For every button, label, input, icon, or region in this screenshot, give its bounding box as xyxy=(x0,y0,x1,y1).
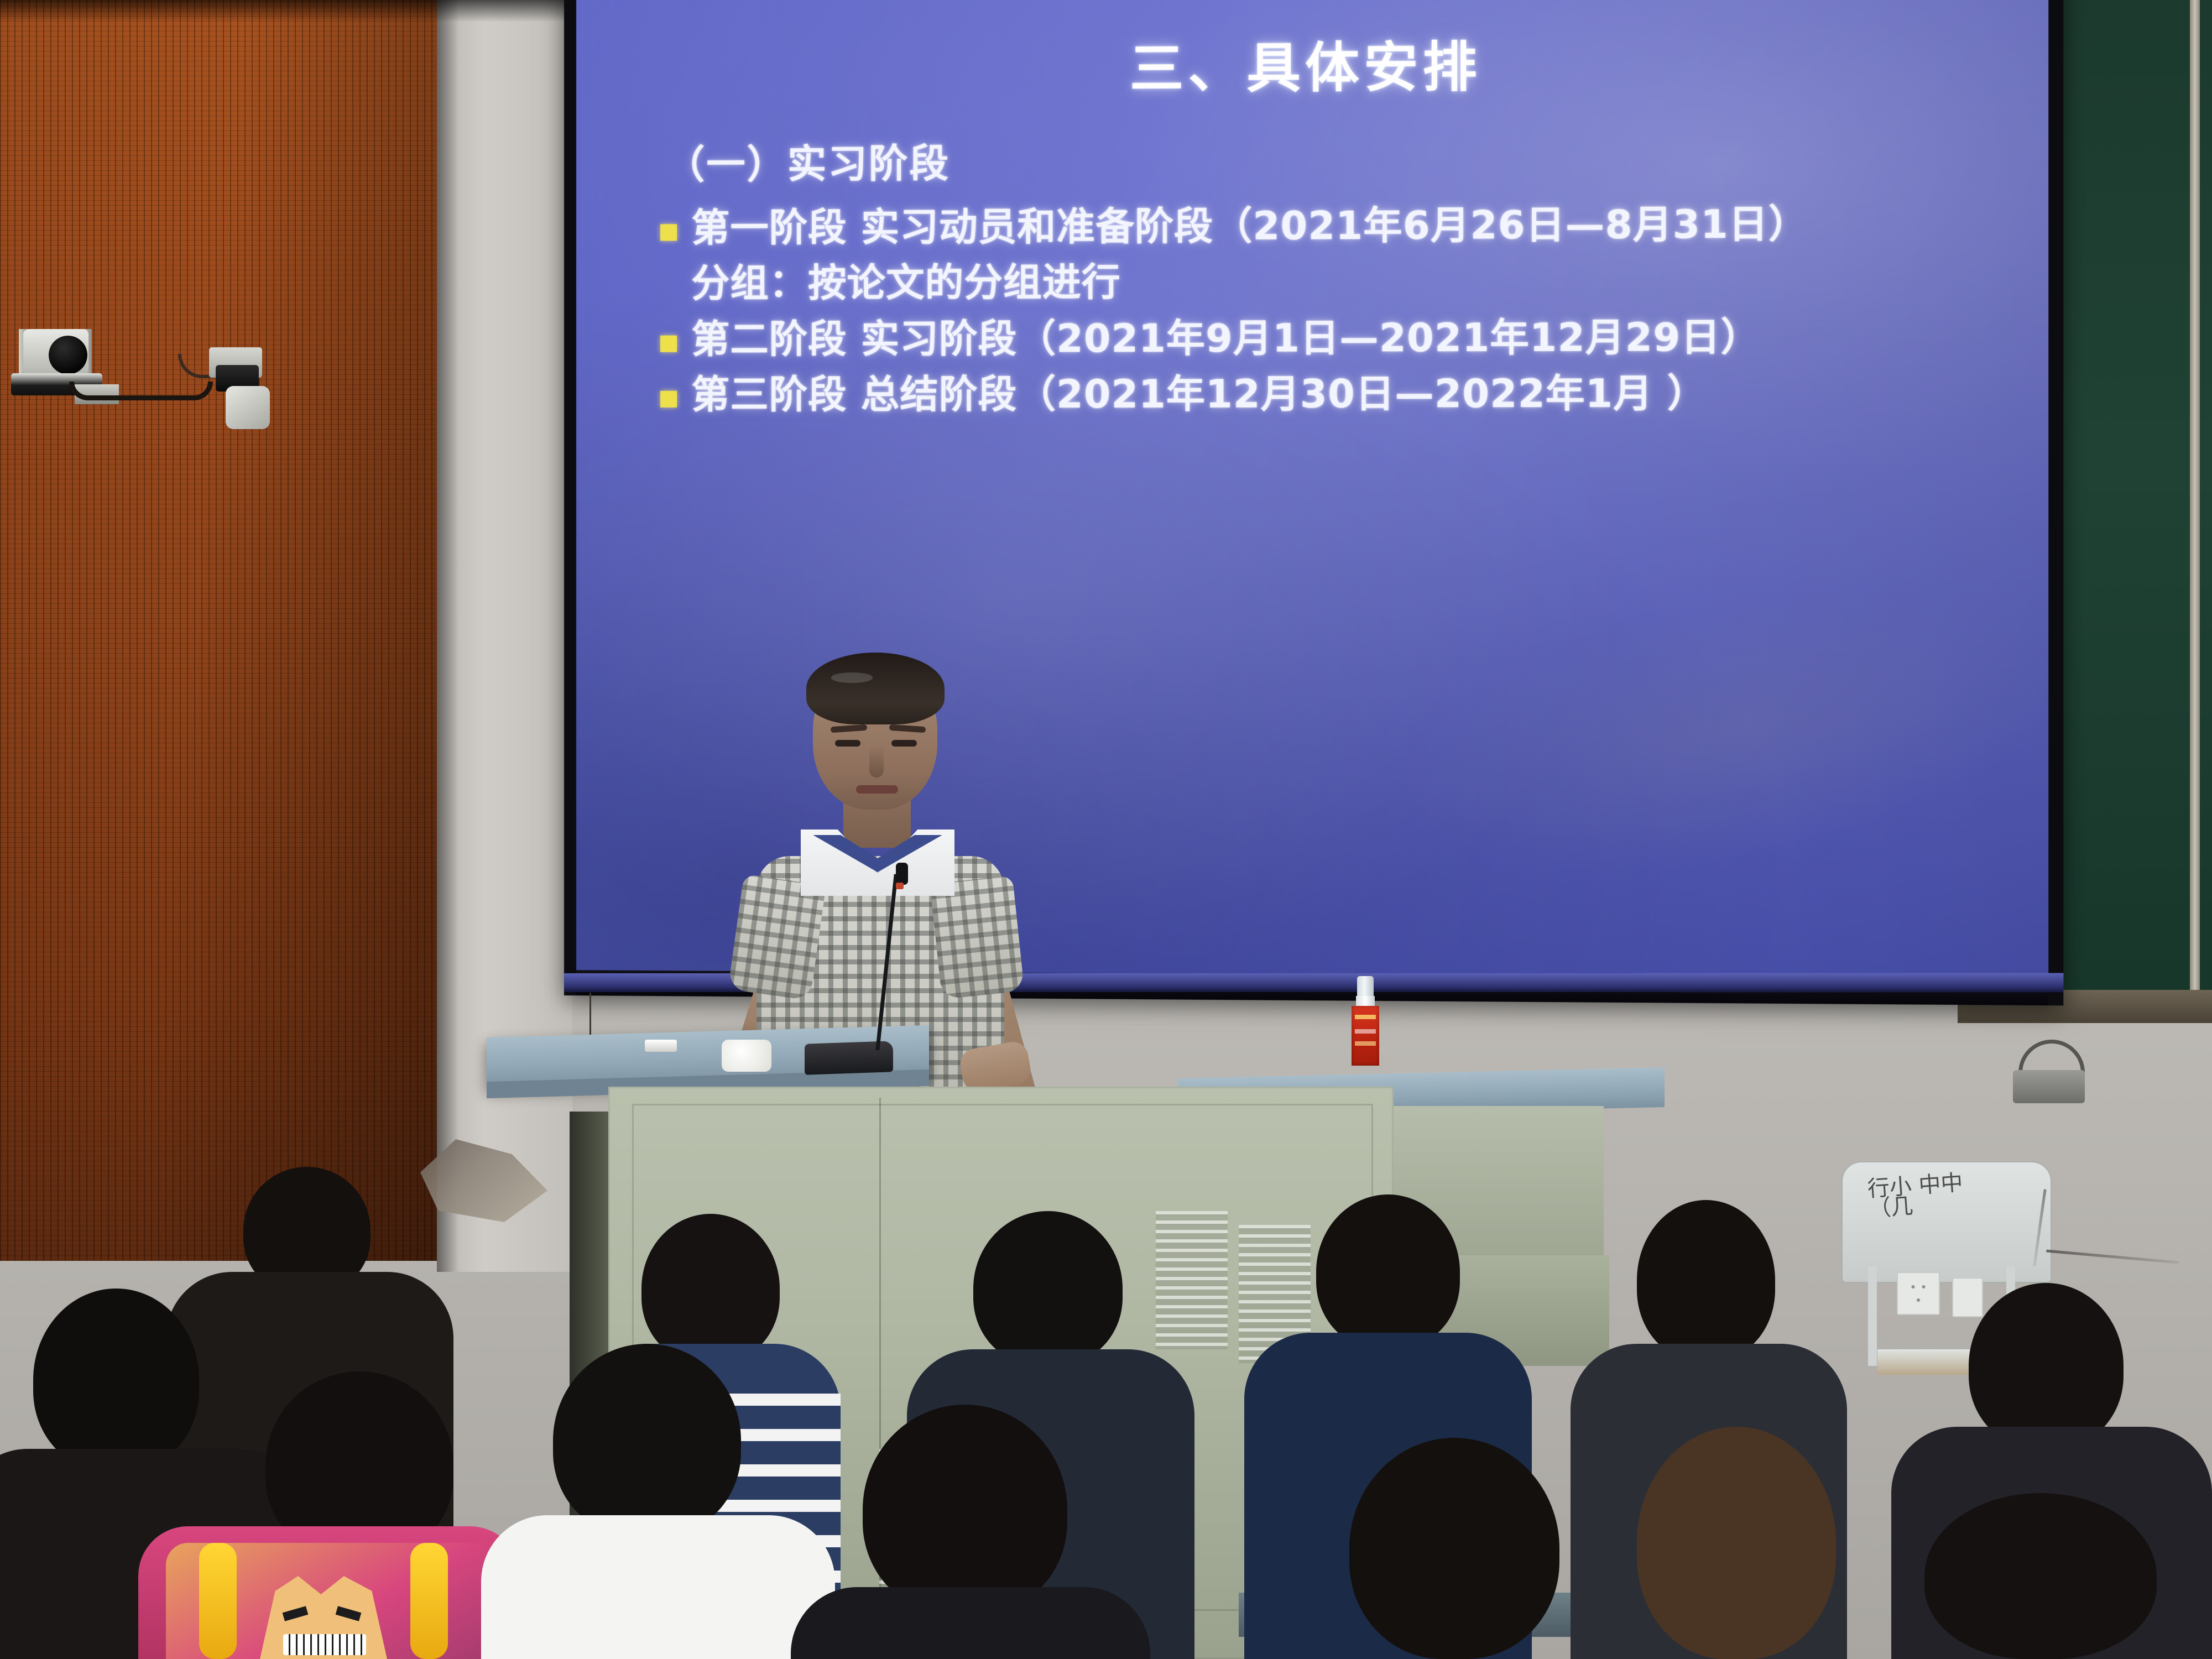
chair-leg xyxy=(1868,1266,1877,1366)
audience-head xyxy=(1924,1493,2157,1659)
audience-head xyxy=(553,1344,741,1537)
water-bottle[interactable] xyxy=(1349,976,1381,1073)
slide-bullet-item: 第三阶段 总结阶段（2021年12月30日—2022年1月 ） xyxy=(660,369,2014,421)
audience-shoulders xyxy=(481,1515,835,1659)
speaker-mouth xyxy=(856,785,898,794)
audience-head-brown xyxy=(1637,1427,1836,1659)
slide-bullet-item: 第二阶段 实习阶段（2021年9月1日—2021年12月29日） xyxy=(660,312,2014,365)
camera-cable xyxy=(69,382,213,400)
audience-head xyxy=(1969,1283,2124,1449)
cartoon-mouth xyxy=(283,1634,366,1655)
speaker-eye xyxy=(891,740,917,747)
audience-head xyxy=(863,1405,1067,1615)
speaker-eye xyxy=(835,740,860,747)
podium-vent xyxy=(1156,1211,1228,1349)
wall-outlet[interactable] xyxy=(1952,1277,1983,1317)
audience-head xyxy=(33,1288,199,1471)
wood-acoustic-panel xyxy=(0,0,437,1261)
security-camera xyxy=(205,331,282,425)
ptz-camera-head xyxy=(23,329,88,374)
slide-subheading: （一）实习阶段 xyxy=(666,128,2014,190)
microphone-capsule xyxy=(896,863,908,885)
lecture-hall-photo: 三、具体安排 （一）实习阶段 第一阶段 实习动员和准备阶段（2021年6月26日… xyxy=(0,0,2212,1659)
slide-plain-line: 分组：按论文的分组进行 xyxy=(691,255,2014,309)
remote-control[interactable] xyxy=(645,1040,677,1052)
blackboard-mullion-right xyxy=(2190,0,2200,1023)
audience-head xyxy=(1316,1194,1460,1349)
microphone-indicator xyxy=(896,883,904,889)
bottle-cap xyxy=(1356,996,1375,1007)
square-bullet-icon xyxy=(660,391,677,408)
speaker-hair xyxy=(806,653,945,724)
slide-bullet-text: 第三阶段 总结阶段（2021年12月30日—2022年1月 ） xyxy=(691,369,1707,421)
bottle-label xyxy=(1352,1006,1379,1066)
slide-bullet-text: 第一阶段 实习动员和准备阶段（2021年6月26日—8月31日） xyxy=(691,200,1808,254)
audience-head xyxy=(973,1211,1123,1366)
square-bullet-icon xyxy=(660,224,677,241)
speaker-nose xyxy=(869,745,884,778)
audience-head xyxy=(641,1214,780,1363)
tissue xyxy=(722,1040,771,1072)
ptz-camera-lens xyxy=(49,336,87,374)
audience-shoulders xyxy=(791,1587,1150,1659)
wall-mounted-device xyxy=(2013,1070,2085,1103)
security-camera-mount xyxy=(226,386,270,429)
square-bullet-icon xyxy=(660,336,677,352)
audience-head xyxy=(1349,1438,1559,1659)
slide-title: 三、具体安排 xyxy=(609,20,2014,106)
backpack-strap xyxy=(410,1543,448,1659)
backpack-strap xyxy=(199,1543,237,1659)
outlet-sockets xyxy=(1908,1280,1929,1306)
pilaster-shadow xyxy=(437,0,459,1272)
slide-bullet-text: 第二阶段 实习阶段（2021年9月1日—2021年12月29日） xyxy=(691,313,1760,365)
wall-outlet[interactable] xyxy=(1897,1272,1940,1315)
slide-bullet-item: 第一阶段 实习动员和准备阶段（2021年6月26日—8月31日） xyxy=(660,199,2014,254)
audience-head xyxy=(1637,1200,1775,1360)
slide-body: （一）实习阶段 第一阶段 实习动员和准备阶段（2021年6月26日—8月31日）… xyxy=(609,128,2014,421)
